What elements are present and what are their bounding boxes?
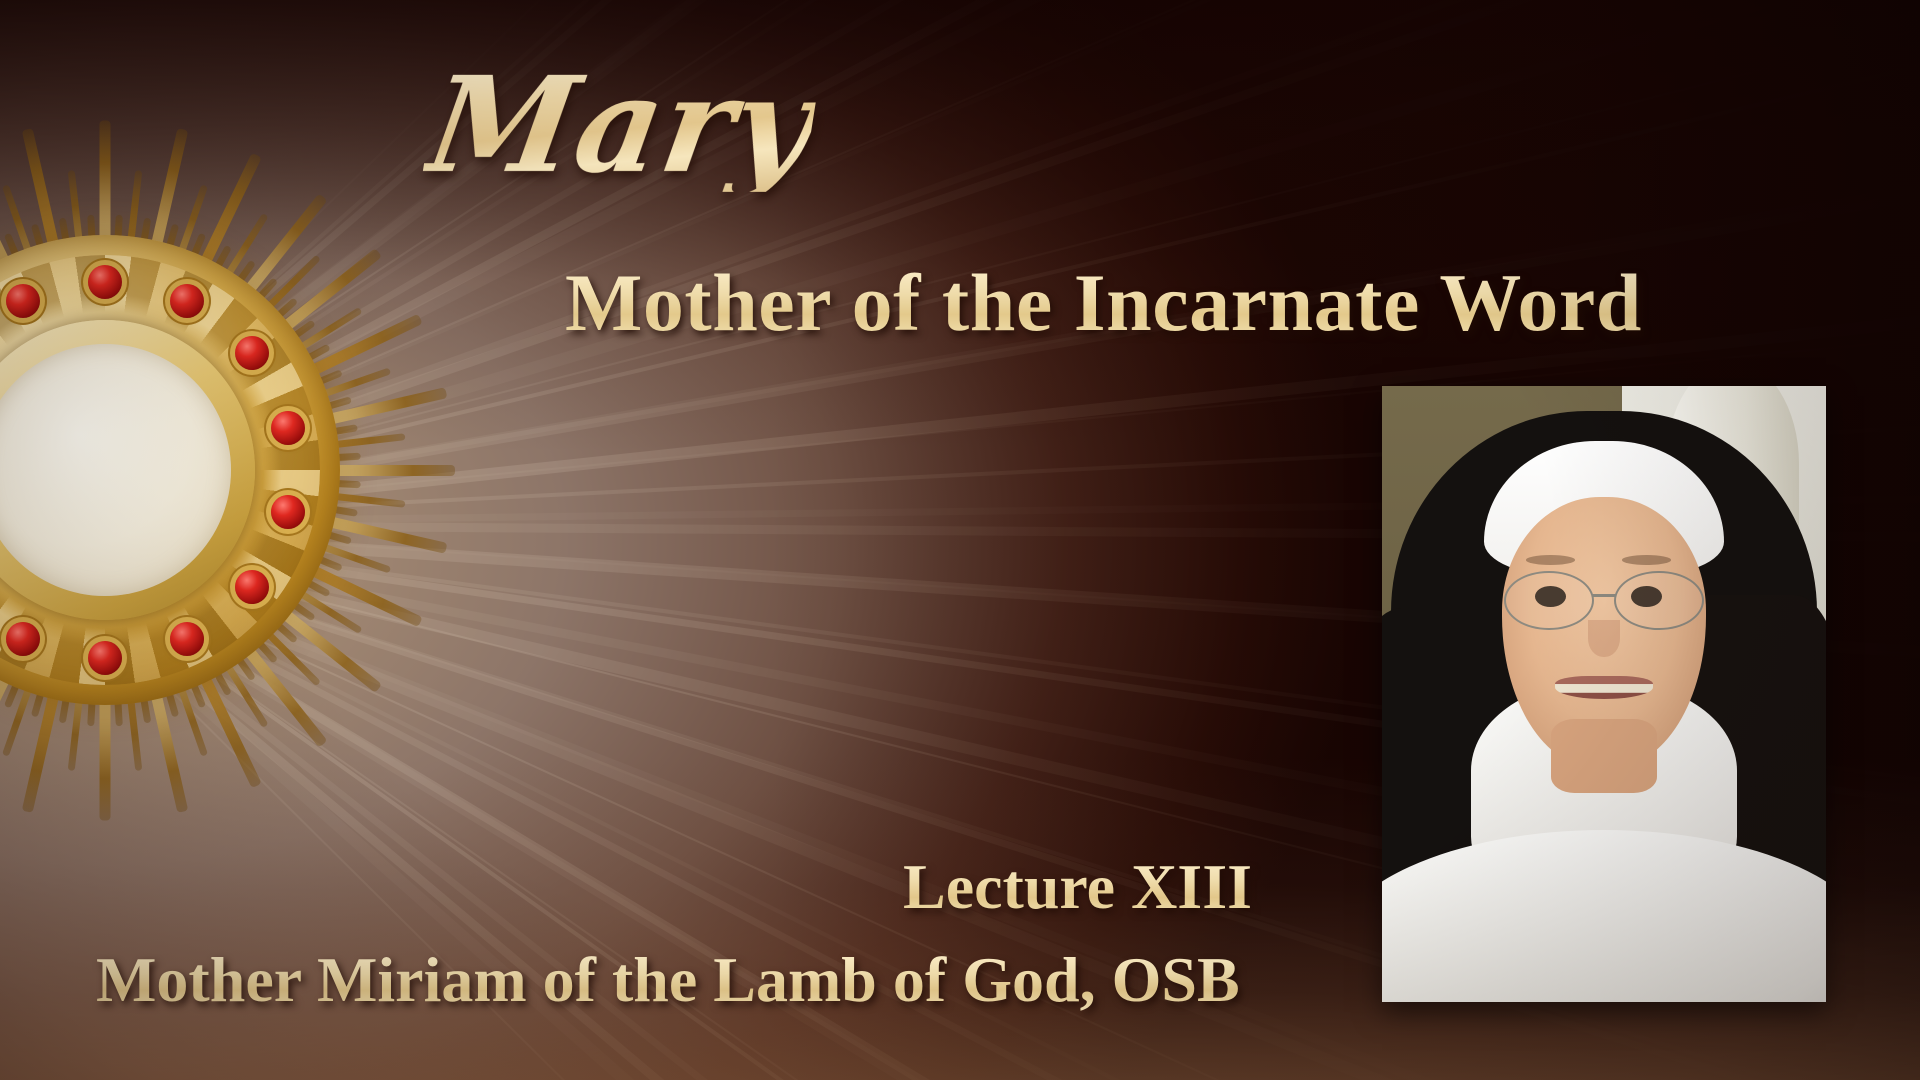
mouth bbox=[1555, 676, 1653, 699]
lecture-number: Lecture XIII bbox=[903, 855, 1252, 919]
presentation-slide: Mary Mother of the Incarnate Word Lectur… bbox=[0, 0, 1920, 1080]
lens-right bbox=[1614, 571, 1704, 630]
eyeglasses-icon bbox=[1502, 571, 1706, 626]
glasses-bridge bbox=[1592, 594, 1617, 597]
page-title: Mother of the Incarnate Word bbox=[565, 262, 1642, 344]
lens-left bbox=[1504, 571, 1594, 630]
speaker-portrait bbox=[1382, 386, 1826, 1002]
nun-scapular bbox=[1382, 830, 1826, 1002]
speaker-name: Mother Miriam of the Lamb of God, OSB bbox=[96, 948, 1240, 1012]
slide-kicker: Mary bbox=[420, 60, 823, 192]
neck bbox=[1551, 719, 1658, 793]
